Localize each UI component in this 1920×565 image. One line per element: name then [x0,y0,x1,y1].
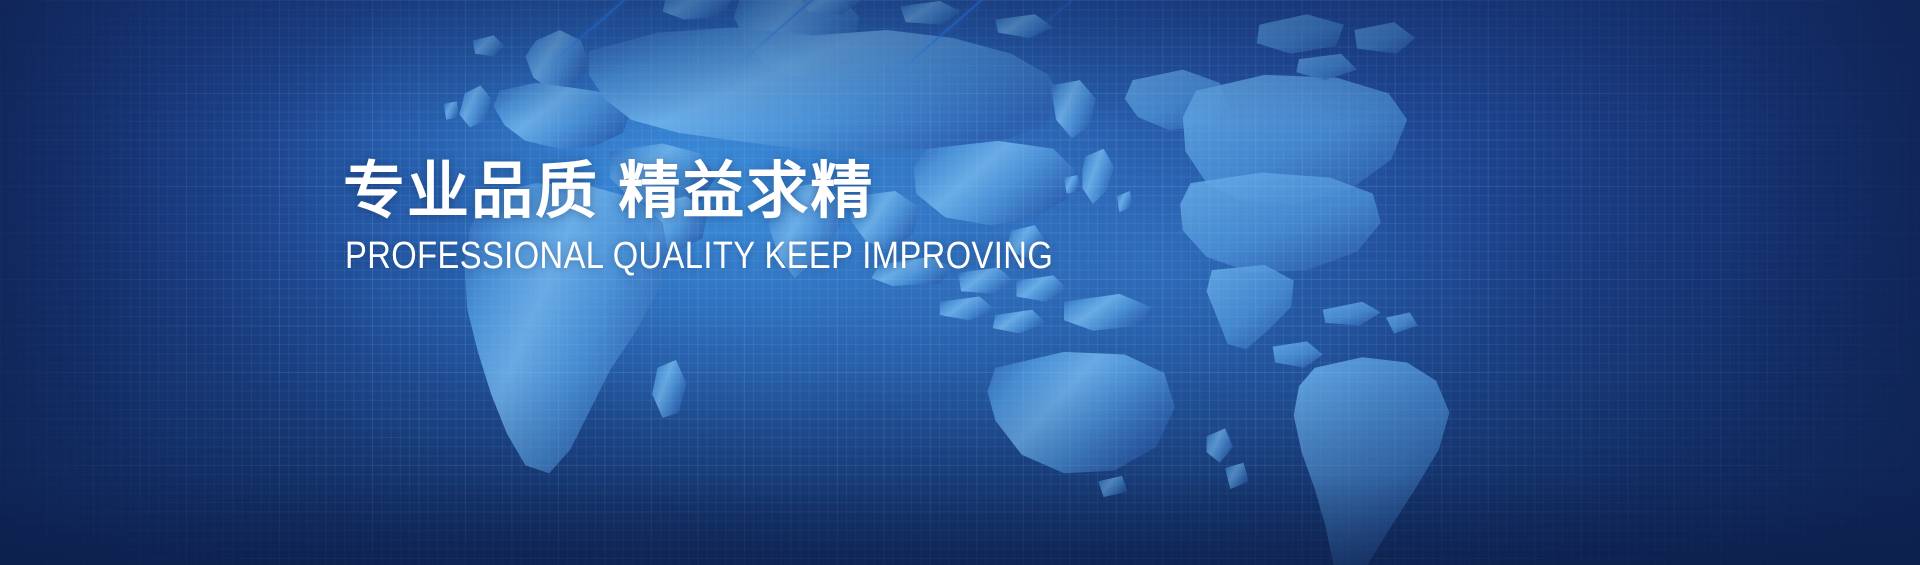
banner-subheadline: PROFESSIONAL QUALITY KEEP IMPROVING [345,237,1053,275]
banner-copy: 专业品质 精益求精 PROFESSIONAL QUALITY KEEP IMPR… [343,160,1168,275]
hero-banner: 专业品质 精益求精 PROFESSIONAL QUALITY KEEP IMPR… [0,0,1920,565]
edge-fade-bottom [0,0,1920,565]
banner-headline: 专业品质 精益求精 [343,160,1168,223]
